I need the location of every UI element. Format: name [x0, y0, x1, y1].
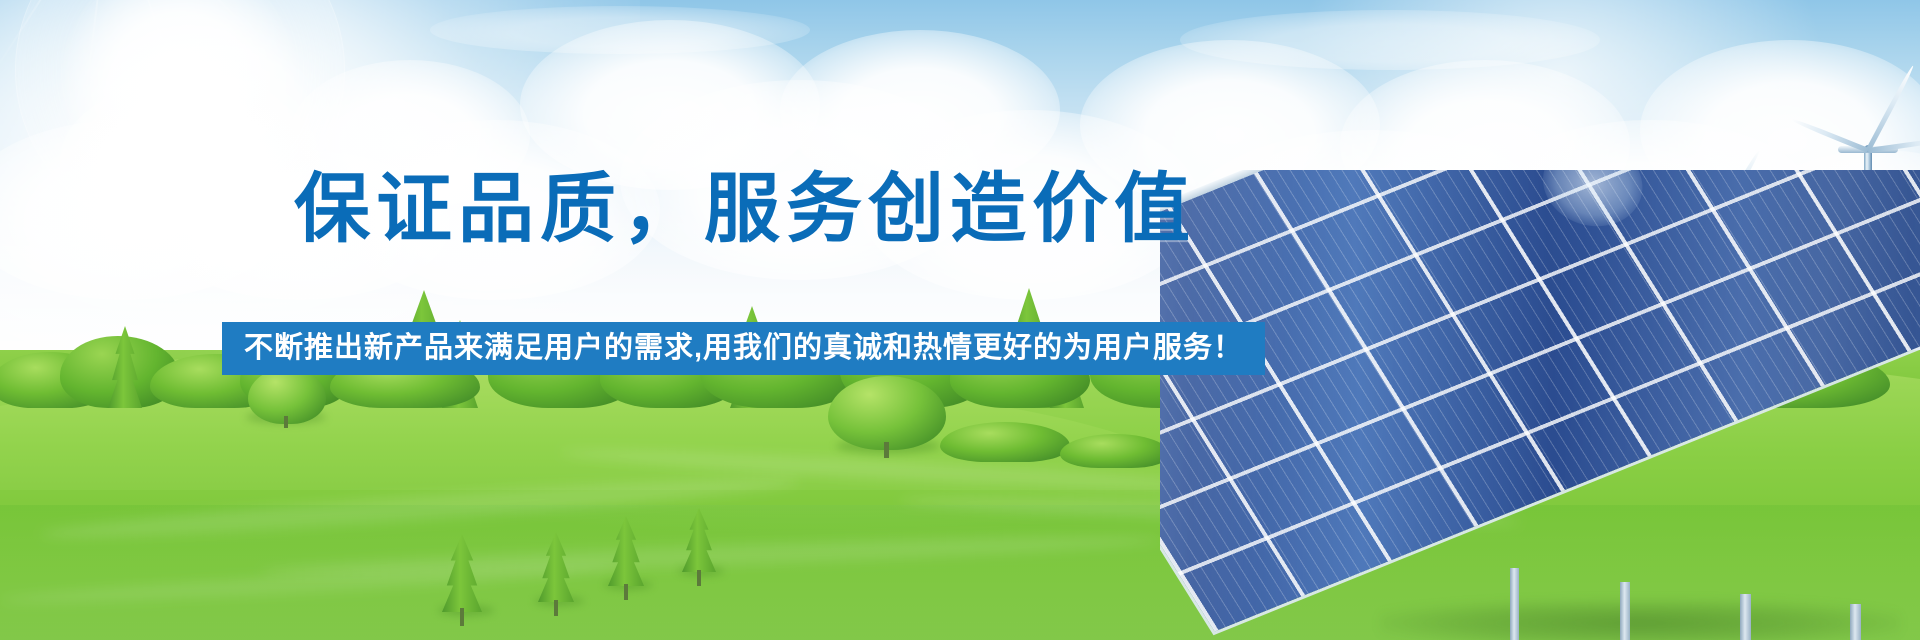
subtitle-text: 不断推出新产品来满足用户的需求,用我们的真诚和热情更好的为用户服务！	[244, 334, 1243, 363]
hero-banner: 保证品质，服务创造价值 不断推出新产品来满足用户的需求,用我们的真诚和热情更好的…	[0, 0, 1920, 640]
page-title: 保证品质，服务创造价值	[0, 172, 1490, 248]
subtitle-bar: 不断推出新产品来满足用户的需求,用我们的真诚和热情更好的为用户服务！	[222, 322, 1265, 375]
banner-copy: 保证品质，服务创造价值 不断推出新产品来满足用户的需求,用我们的真诚和热情更好的…	[0, 0, 1920, 640]
